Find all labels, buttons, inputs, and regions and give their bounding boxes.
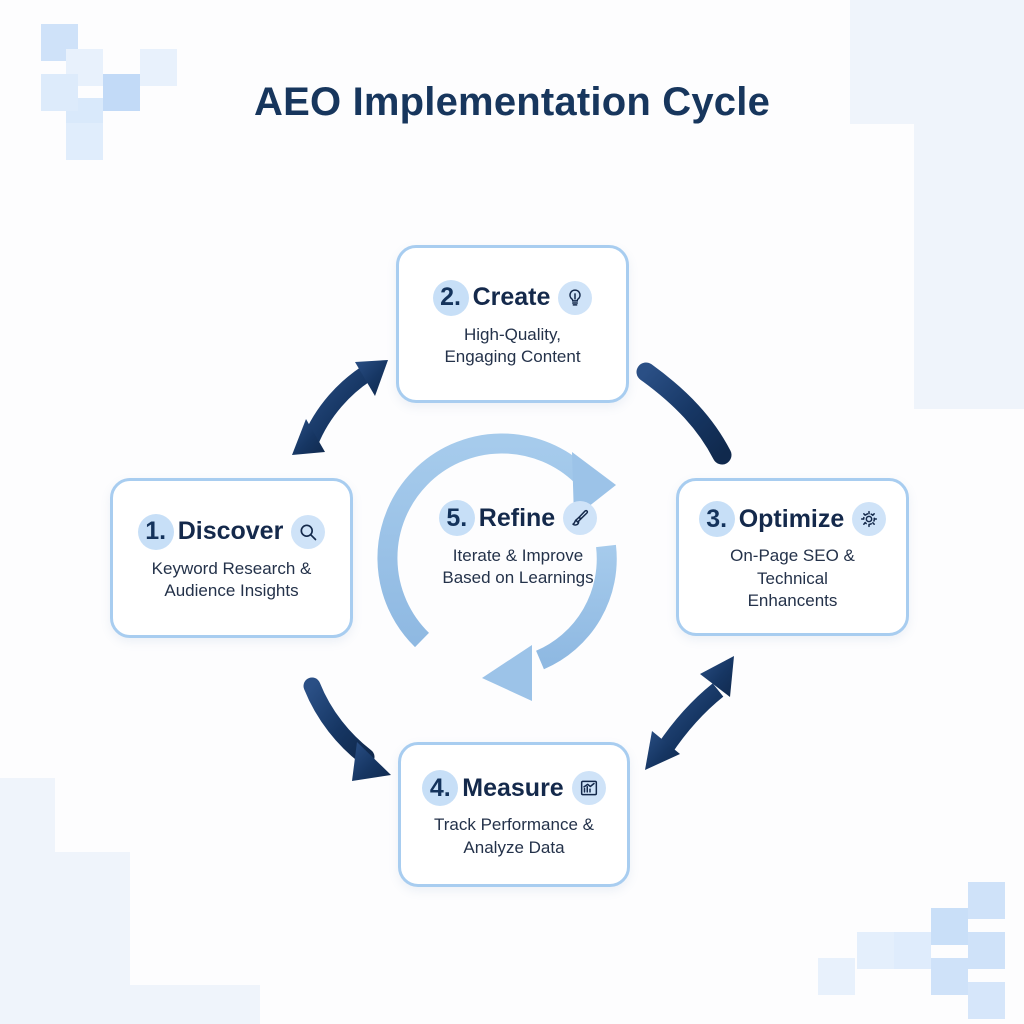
card-body: On-Page SEO & Technical Enhancents [720, 545, 865, 612]
card-title: Refine [479, 504, 555, 533]
measure-optimize-connector [645, 656, 734, 770]
step-number-badge: 5. [439, 500, 475, 536]
card-body-line: Track Performance & [434, 814, 594, 836]
paintbrush-icon [563, 501, 597, 535]
step-number-badge: 1. [138, 514, 174, 550]
card-body-line: Technical [730, 568, 855, 590]
node-card-measure[interactable]: 4. Measure Track Performance & Analyze D… [398, 742, 630, 887]
step-number-badge: 3. [699, 501, 735, 537]
step-number-badge: 4. [422, 770, 458, 806]
node-card-create[interactable]: 2. Create High-Quality, Engaging Content [396, 245, 629, 403]
card-body: Keyword Research & Audience Insights [142, 558, 322, 603]
card-body-line: Based on Learnings [442, 567, 593, 589]
diagram-canvas: AEO Implementation Cycle [0, 0, 1024, 1024]
card-title: Optimize [739, 505, 845, 534]
card-header: 4. Measure [422, 770, 605, 806]
step-number-badge: 2. [433, 280, 469, 316]
card-body-line: On-Page SEO & [730, 545, 855, 567]
node-center-refine[interactable]: 5. Refine Iterate & Improve Based on Lea… [404, 500, 632, 590]
search-icon [291, 515, 325, 549]
card-body-line: High-Quality, [444, 324, 580, 346]
node-card-optimize[interactable]: 3. Optimize On-Page SEO & Technical Enha… [676, 478, 909, 636]
node-card-discover[interactable]: 1. Discover Keyword Research & Audience … [110, 478, 353, 638]
bar-chart-icon [572, 771, 606, 805]
card-body-line: Analyze Data [434, 837, 594, 859]
card-title: Measure [462, 774, 563, 803]
discover-create-connector [292, 360, 388, 455]
card-header: 1. Discover [138, 514, 326, 550]
card-header: 3. Optimize [699, 501, 887, 537]
card-body-line: Enhancents [730, 590, 855, 612]
card-title: Discover [178, 517, 284, 546]
gear-icon [852, 502, 886, 536]
card-body: High-Quality, Engaging Content [434, 324, 590, 369]
card-body-line: Engaging Content [444, 346, 580, 368]
card-body: Track Performance & Analyze Data [424, 814, 604, 859]
card-title: Create [473, 283, 551, 312]
card-header: 5. Refine [439, 500, 597, 536]
lightbulb-icon [558, 281, 592, 315]
card-header: 2. Create [433, 280, 593, 316]
card-body-line: Keyword Research & [152, 558, 312, 580]
card-body-line: Iterate & Improve [442, 545, 593, 567]
card-body-line: Audience Insights [152, 580, 312, 602]
create-optimize-connector [646, 372, 722, 455]
card-body: Iterate & Improve Based on Learnings [432, 545, 603, 590]
discover-measure-connector [312, 686, 391, 781]
